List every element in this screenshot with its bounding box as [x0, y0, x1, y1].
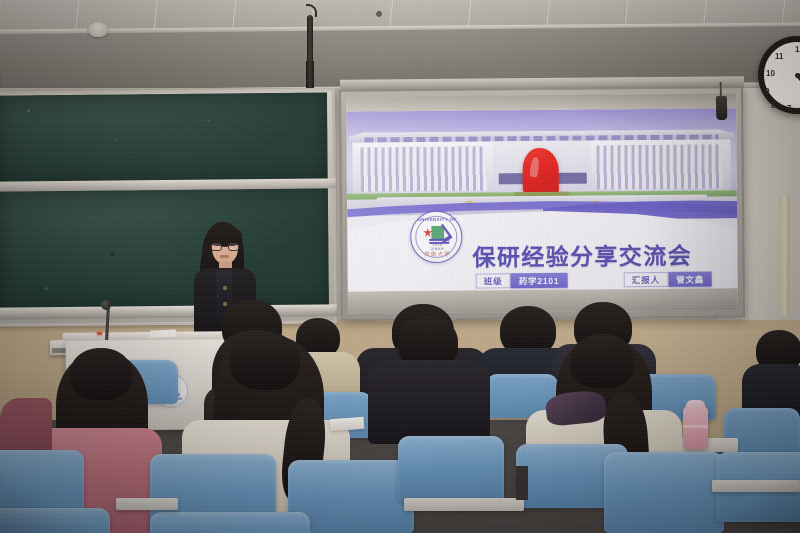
desk-front-left: [116, 498, 178, 510]
hanging-hook-pole: [303, 4, 317, 90]
presenter-mouth: [220, 255, 229, 258]
seat-front-4: [398, 436, 504, 502]
blackboard: [0, 88, 337, 326]
microphone-head-icon: [101, 300, 111, 310]
lectern-indicator-light: [97, 332, 102, 335]
presenter-button-2: [223, 302, 227, 306]
open-booklet: [330, 417, 365, 431]
thermos-band: [683, 425, 708, 428]
seal-text-top: UNIVERSITY OF: [411, 216, 463, 221]
hook-rod: [307, 15, 313, 91]
clock-num-10: 10: [766, 69, 775, 78]
meta-group-presenter: 汇报人 管文鑫: [624, 272, 713, 288]
clock-num-8: 8: [771, 101, 775, 110]
desk-leg-mid: [516, 466, 528, 500]
seat-front-6: [604, 452, 724, 533]
meta-value-presenter: 管文鑫: [668, 272, 712, 287]
thermos-lid: [686, 400, 705, 409]
slide-campus-photo: [346, 108, 737, 215]
screen-surface: UNIVERSITY OF JINAN 1948 济南大学 保研经验分享交流会: [346, 93, 738, 313]
clock-hub: [795, 73, 800, 78]
meta-group-class: 班级 药学2101: [476, 273, 568, 289]
lecture-hall-photo: UNIVERSITY OF JINAN 1948 济南大学 保研经验分享交流会: [0, 0, 800, 533]
projection-screen: UNIVERSITY OF JINAN 1948 济南大学 保研经验分享交流会: [339, 86, 745, 321]
slide-title: 保研经验分享交流会: [472, 236, 720, 272]
desk-front-right: [712, 480, 800, 492]
clock-num-7: 7: [787, 104, 791, 113]
meta-value-class: 药学2101: [511, 273, 568, 288]
meta-label-presenter: 汇报人: [624, 272, 669, 287]
seal-emblem: [423, 226, 451, 242]
ceiling-fixture-dot: [376, 11, 382, 17]
presentation-slide: UNIVERSITY OF JINAN 1948 济南大学 保研经验分享交流会: [346, 108, 738, 291]
seat-bottom-2: [150, 512, 310, 533]
building-windows-right: [596, 144, 722, 189]
clock-num-12: 12: [795, 45, 800, 54]
thermos-bottle: [683, 405, 708, 449]
presenter-glasses-icon: [211, 243, 239, 251]
seal-bar-1: [429, 239, 449, 241]
seal-chinese-name: 济南大学: [411, 250, 463, 258]
red-monument-sculpture: [523, 148, 559, 195]
lectern-paper: [150, 329, 176, 337]
seal-year: 1948: [411, 242, 463, 247]
blackboard-panel-bottom: [0, 188, 329, 309]
screen-cord-clip: [716, 82, 728, 122]
meta-label-class: 班级: [476, 273, 511, 288]
desk-front-mid: [404, 498, 524, 511]
smoke-detector-icon: [88, 22, 108, 37]
building-windows-left: [361, 146, 487, 191]
seal-star-icon: [423, 228, 432, 237]
presenter-button-1: [223, 286, 227, 290]
seat-bottom-1: [0, 508, 110, 533]
university-seal-logo: UNIVERSITY OF JINAN 1948 济南大学: [410, 211, 462, 263]
blackboard-panel-top: [0, 92, 328, 183]
slide-meta-row: 班级 药学2101 汇报人 管文鑫: [476, 271, 728, 288]
clock-num-11: 11: [775, 52, 783, 61]
clock-num-9: 9: [765, 87, 769, 96]
wall-trim-strip: [779, 196, 790, 316]
